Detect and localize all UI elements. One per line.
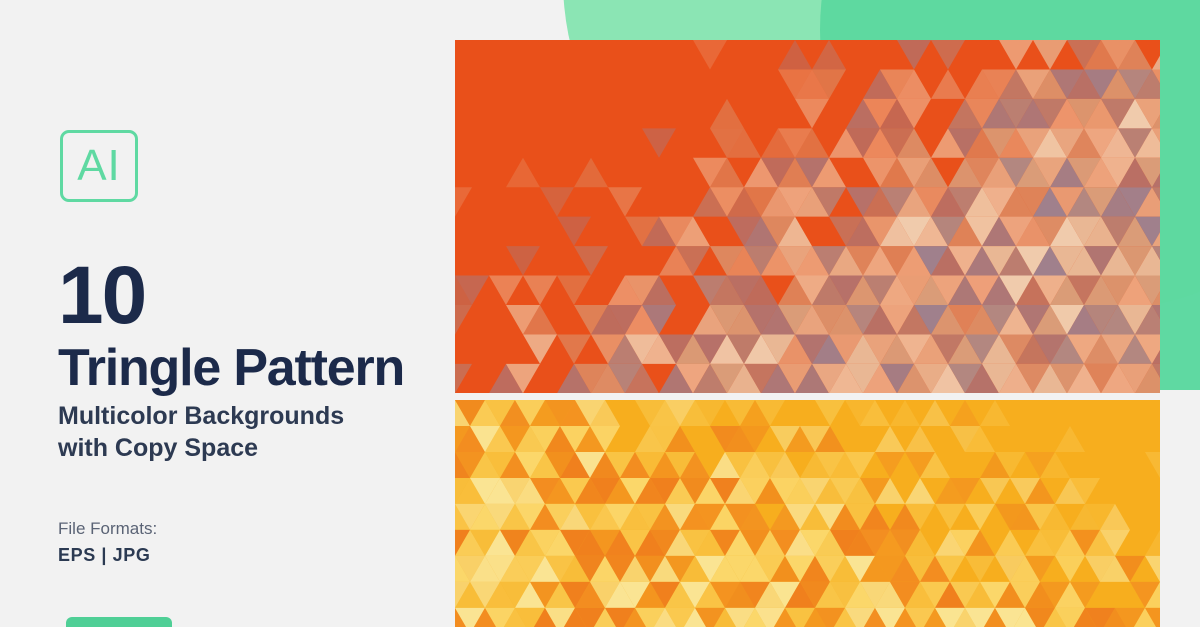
promo-banner: AI 10 Tringle Pattern Multicolor Backgro… [0,0,1200,627]
page-title: Tringle Pattern [58,342,404,394]
item-count: 10 [58,255,145,337]
left-info-column: AI 10 Tringle Pattern Multicolor Backgro… [0,0,455,627]
file-formats-block: File Formats: EPS | JPG [58,516,157,569]
page-subtitle: Multicolor Backgrounds with Copy Space [58,400,344,464]
yellow-triangle-pattern-preview[interactable] [455,400,1160,627]
orange-pattern-svg [455,40,1160,393]
file-formats-value: EPS | JPG [58,542,157,569]
adobe-illustrator-badge: AI [60,130,138,202]
green-tag-button[interactable] [66,617,172,627]
orange-triangle-pattern-preview[interactable] [455,40,1160,393]
file-formats-label: File Formats: [58,516,157,542]
page-subtitle-line-2: with Copy Space [58,432,344,464]
adobe-illustrator-badge-label: AI [77,144,121,188]
yellow-pattern-svg [455,400,1160,627]
page-subtitle-line-1: Multicolor Backgrounds [58,400,344,432]
